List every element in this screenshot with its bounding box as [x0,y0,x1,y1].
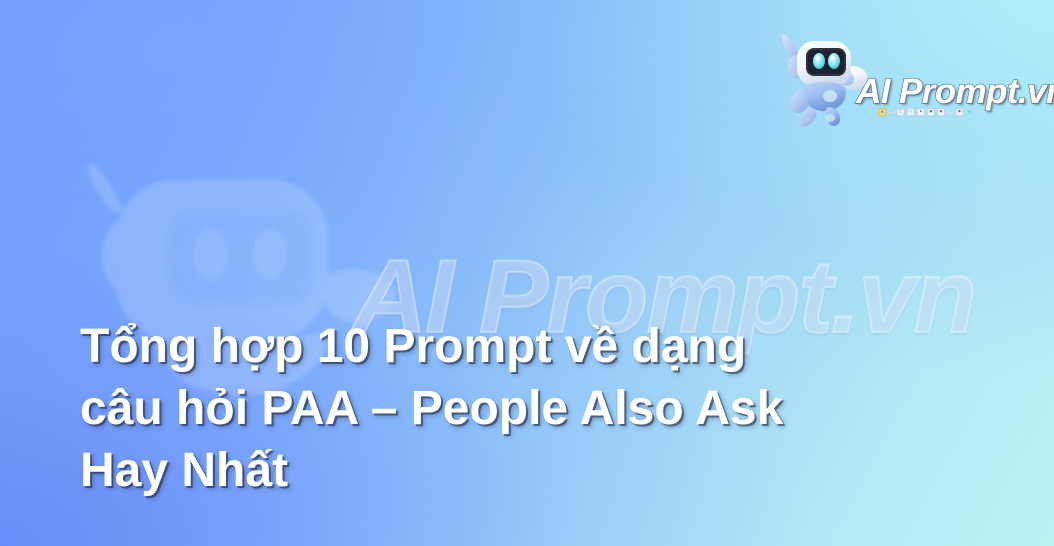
image-icon: ■ [927,108,935,116]
chart-icon: ■ [955,108,963,116]
page-title-line-3: Hay Nhất [80,440,1010,502]
article-hero-banner: AI Prompt.vn [0,0,1054,546]
shield-icon: ▲ [878,108,886,116]
globe-icon: ● [917,108,925,116]
logo-icon-strip: ▲ ▯ ○ ● ■ ■ ■ + [878,108,974,116]
add-icon: + [965,108,973,116]
page-title-line-2: câu hỏi PAA – People Also Ask [80,378,1010,440]
page-title-line-1: Tổng hợp 10 Prompt về dạng [80,316,1010,378]
tag-icon: ■ [937,108,945,116]
divider-dash-icon-2 [947,111,953,113]
clock-icon: ○ [907,108,915,116]
divider-dash-icon [888,111,894,113]
brand-logo[interactable]: AI Prompt.vn ▲ ▯ ○ ● ■ ■ ■ + [778,28,1040,132]
page-title: Tổng hợp 10 Prompt về dạng câu hỏi PAA –… [80,316,1010,502]
logo-wordmark: AI Prompt.vn [856,72,1054,112]
document-icon: ▯ [896,108,904,116]
